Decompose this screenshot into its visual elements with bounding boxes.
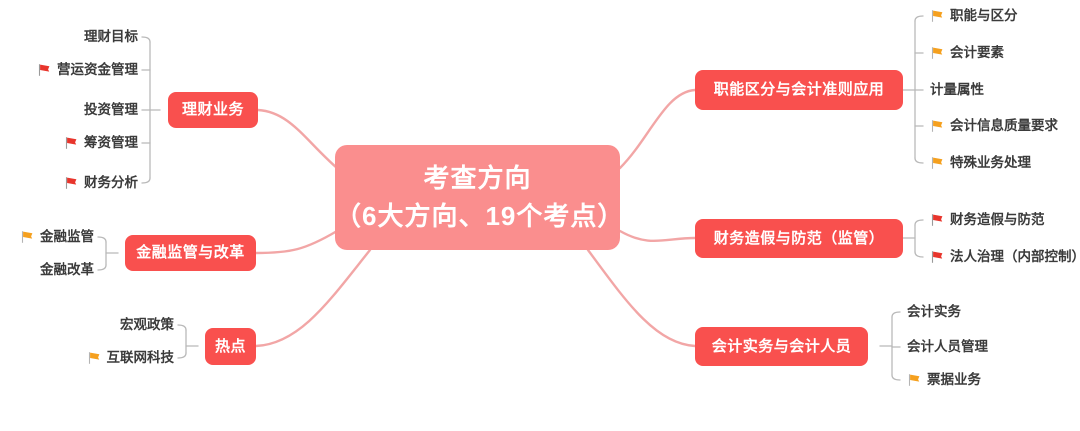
leaf-label: 筹资管理 (84, 136, 138, 150)
trunk-redian (256, 250, 370, 346)
center-node[interactable]: 考查方向 （6大方向、19个考点） (335, 145, 620, 250)
branch-node-kuaiji-shiwu[interactable]: 会计实务与会计人员 (695, 327, 868, 366)
flag-orange-icon (87, 351, 101, 365)
leaf-kuaiji-2[interactable]: 会计人员管理 (907, 340, 988, 354)
leaf-label: 投资管理 (84, 103, 138, 117)
leaf-caiwu-1[interactable]: 财务造假与防范 (930, 213, 1045, 227)
leaf-kuaiji-3[interactable]: 票据业务 (907, 373, 981, 387)
flag-orange-icon (930, 119, 944, 133)
leaf-zhineng-1[interactable]: 职能与区分 (930, 9, 1018, 23)
branch-node-label: 职能区分与会计准则应用 (714, 81, 885, 99)
leaf-label: 会计信息质量要求 (950, 119, 1058, 133)
leaf-zhineng-2[interactable]: 会计要素 (930, 46, 1004, 60)
hook-redian-2 (178, 353, 186, 358)
flag-orange-icon (930, 9, 944, 23)
leaf-label: 会计人员管理 (907, 340, 988, 354)
branch-node-licai-yewu[interactable]: 理财业务 (168, 92, 258, 128)
leaf-label: 会计要素 (950, 46, 1004, 60)
leaf-label: 职能与区分 (950, 9, 1018, 23)
leaf-jinrong-2[interactable]: 金融改革 (40, 263, 94, 277)
flag-red-icon (930, 250, 944, 264)
hook-zhineng-1 (915, 16, 923, 21)
branch-node-label: 财务造假与防范（监管） (714, 230, 885, 248)
hook-jinrong-1 (98, 237, 106, 242)
branch-node-label: 会计实务与会计人员 (712, 338, 852, 356)
branch-node-label: 理财业务 (182, 101, 244, 119)
flag-orange-icon (907, 373, 921, 387)
trunk-jinrong (256, 231, 337, 253)
branch-node-label: 热点 (215, 338, 246, 356)
flag-orange-icon (20, 230, 34, 244)
leaf-licai-1[interactable]: 理财目标 (84, 30, 138, 44)
center-node-line2: （6大方向、19个考点） (335, 198, 620, 236)
flag-red-icon (64, 176, 78, 190)
leaf-label: 票据业务 (927, 373, 981, 387)
hook-licai-5 (142, 178, 150, 183)
leaf-label: 金融监管 (40, 230, 94, 244)
leaf-licai-3[interactable]: 投资管理 (84, 103, 138, 117)
leaf-zhineng-3[interactable]: 计量属性 (930, 83, 984, 97)
leaf-caiwu-2[interactable]: 法人治理（内部控制） (930, 250, 1080, 264)
flag-orange-icon (930, 156, 944, 170)
hook-jinrong-2 (98, 265, 106, 270)
hook-zhineng-5 (915, 158, 923, 163)
leaf-zhineng-5[interactable]: 特殊业务处理 (930, 156, 1031, 170)
center-node-line1: 考查方向 (423, 160, 531, 198)
hook-caiwu-1 (915, 220, 923, 225)
trunk-kuaiji (588, 250, 695, 346)
leaf-redian-1[interactable]: 宏观政策 (120, 318, 174, 332)
flag-red-icon (37, 63, 51, 77)
trunk-zhineng (620, 90, 695, 168)
mindmap-canvas: 考查方向 （6大方向、19个考点） 理财业务 金融监管与改革 热点 职能区分与会… (0, 0, 1080, 431)
flag-red-icon (930, 213, 944, 227)
leaf-kuaiji-1[interactable]: 会计实务 (907, 305, 961, 319)
branch-node-zhineng-qufen[interactable]: 职能区分与会计准则应用 (695, 70, 903, 110)
leaf-label: 会计实务 (907, 305, 961, 319)
hook-redian-1 (178, 325, 186, 330)
leaf-label: 特殊业务处理 (950, 156, 1031, 170)
leaf-licai-4[interactable]: 筹资管理 (64, 136, 138, 150)
leaf-licai-5[interactable]: 财务分析 (64, 176, 138, 190)
hook-kuaiji-1 (892, 312, 900, 317)
trunk-caiwu (620, 231, 695, 241)
hook-kuaiji-3 (892, 375, 900, 380)
hook-licai-1 (142, 37, 150, 42)
leaf-licai-2[interactable]: 营运资金管理 (37, 63, 138, 77)
trunk-licai (258, 110, 337, 168)
branch-node-jinrong-jianguan[interactable]: 金融监管与改革 (125, 235, 256, 271)
flag-red-icon (64, 136, 78, 150)
leaf-label: 营运资金管理 (57, 63, 138, 77)
leaf-label: 财务分析 (84, 176, 138, 190)
leaf-label: 互联网科技 (107, 351, 175, 365)
leaf-label: 财务造假与防范 (950, 213, 1045, 227)
branch-node-caiwu-zaojia[interactable]: 财务造假与防范（监管） (695, 219, 903, 258)
leaf-label: 金融改革 (40, 263, 94, 277)
leaf-label: 宏观政策 (120, 318, 174, 332)
leaf-redian-2[interactable]: 互联网科技 (87, 351, 175, 365)
leaf-label: 法人治理（内部控制） (950, 250, 1080, 264)
leaf-label: 计量属性 (930, 83, 984, 97)
branch-node-redian[interactable]: 热点 (205, 328, 256, 365)
leaf-label: 理财目标 (84, 30, 138, 44)
hook-caiwu-2 (915, 252, 923, 257)
branch-node-label: 金融监管与改革 (136, 244, 245, 262)
leaf-jinrong-1[interactable]: 金融监管 (20, 230, 94, 244)
leaf-zhineng-4[interactable]: 会计信息质量要求 (930, 119, 1058, 133)
flag-orange-icon (930, 46, 944, 60)
